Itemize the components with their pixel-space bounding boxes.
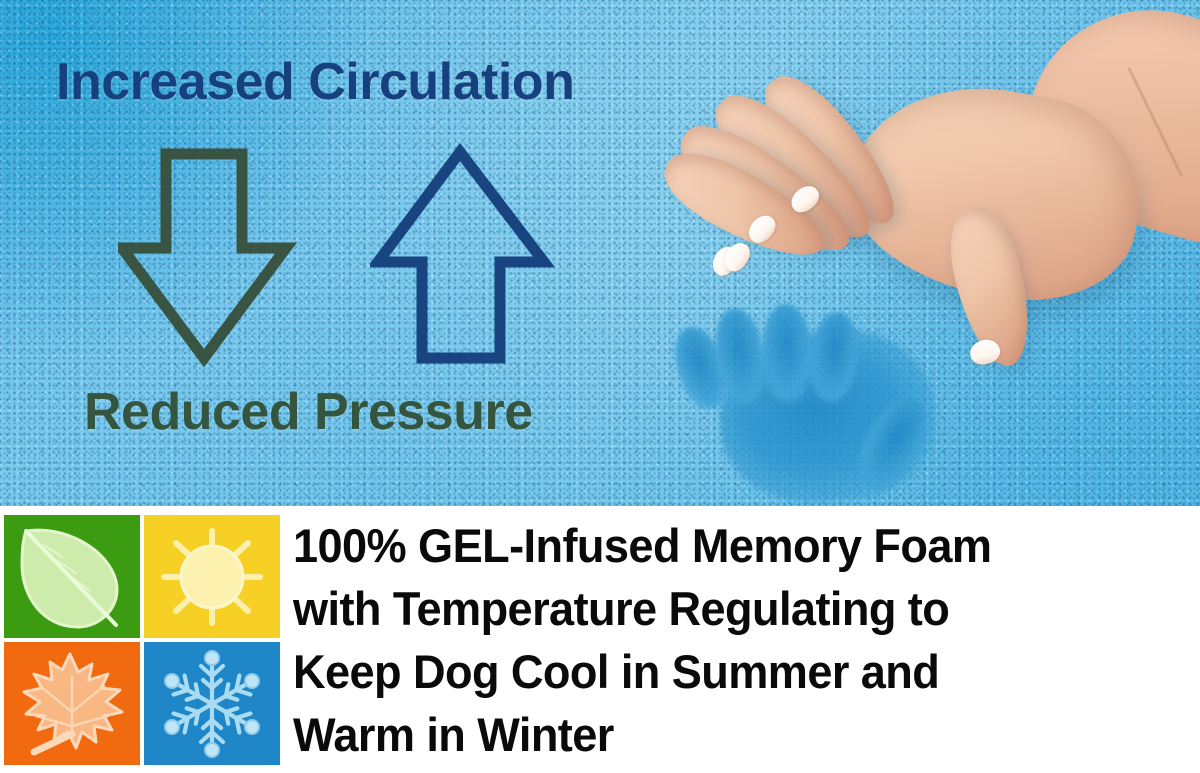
season-tile-autumn: [4, 642, 140, 765]
reduced-pressure-label: Reduced Pressure: [84, 382, 533, 442]
leaf-icon: [4, 515, 140, 638]
arrow-up-icon: [370, 144, 555, 369]
season-icon-grid: [4, 515, 280, 765]
caption-line-3: Keep Dog Cool in Summer and: [293, 640, 1164, 703]
arrow-down-icon: [118, 144, 298, 369]
maple-leaf-icon: [4, 642, 140, 765]
caption-line-1: 100% GEL-Infused Memory Foam: [293, 514, 1164, 577]
season-tile-spring: [4, 515, 140, 638]
caption-line-4: Warm in Winter: [293, 703, 1164, 766]
season-tile-summer: [144, 515, 280, 638]
caption-line-2: with Temperature Regulating to: [293, 577, 1164, 640]
snowflake-icon: [144, 642, 280, 765]
increased-circulation-label: Increased Circulation: [56, 52, 574, 112]
hand-photo: [700, 0, 1200, 400]
season-tile-winter: [144, 642, 280, 765]
sun-icon: [144, 515, 280, 638]
caption-text-block: 100% GEL-Infused Memory Foam with Temper…: [293, 514, 1200, 766]
product-feature-banner: Increased Circulation Reduced Pressure: [0, 0, 1200, 773]
caption-band: 100% GEL-Infused Memory Foam with Temper…: [0, 506, 1200, 773]
foam-photo: Increased Circulation Reduced Pressure: [0, 0, 1200, 506]
